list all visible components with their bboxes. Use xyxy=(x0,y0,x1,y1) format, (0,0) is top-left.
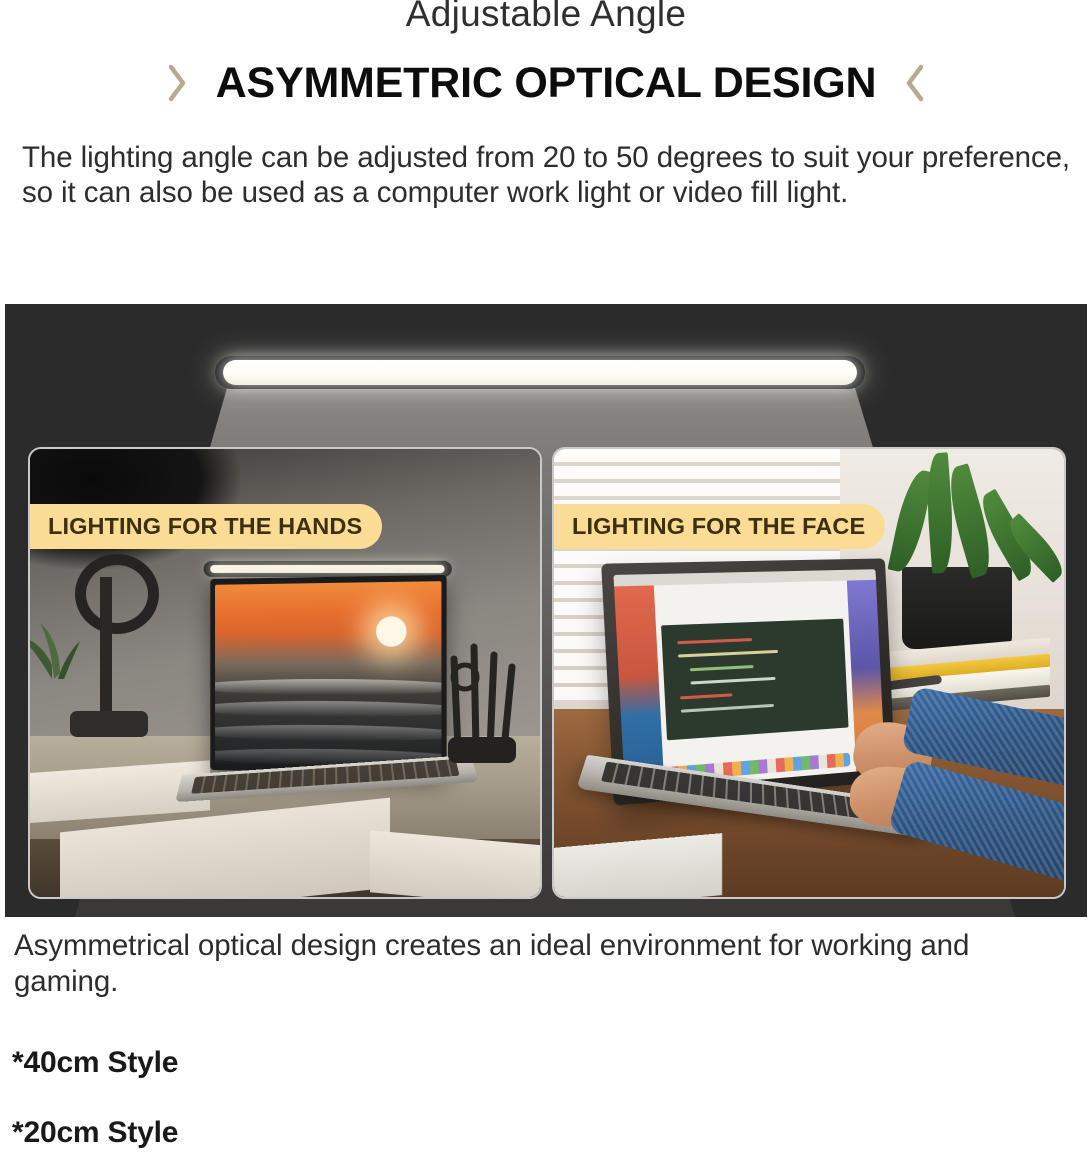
laptop-display xyxy=(613,569,885,791)
page-title: ASYMMETRIC OPTICAL DESIGN xyxy=(216,62,877,105)
hero-panel: LIGHTING FOR THE HANDS xyxy=(5,304,1087,917)
pen-holder-icon xyxy=(432,629,528,769)
chevron-right-icon xyxy=(164,62,190,104)
desk-lamp-pole xyxy=(100,577,112,717)
sun-glow xyxy=(376,616,406,647)
eyebrow-title: Adjustable Angle xyxy=(0,0,1092,36)
intro-paragraph: The lighting angle can be adjusted from … xyxy=(22,140,1070,210)
variant-20cm: *20cm Style xyxy=(12,1116,178,1150)
desk-lamp-ring xyxy=(75,554,159,634)
ocean-sunset-wallpaper xyxy=(215,581,441,767)
photo-panel-hands: LIGHTING FOR THE HANDS xyxy=(28,447,542,899)
led-tube-glow xyxy=(223,360,857,385)
badge-hands: LIGHTING FOR THE HANDS xyxy=(28,504,382,549)
caption-paragraph: Asymmetrical optical design creates an i… xyxy=(14,928,1062,1000)
badge-hands-label: LIGHTING FOR THE HANDS xyxy=(48,513,362,540)
photo-panel-face: LIGHTING FOR THE FACE xyxy=(552,447,1066,899)
plant-pot xyxy=(902,567,1012,649)
badge-face-label: LIGHTING FOR THE FACE xyxy=(572,513,865,540)
chevron-left-icon xyxy=(902,62,928,104)
plant-icon xyxy=(30,599,80,679)
code-editor xyxy=(661,619,849,741)
headline-row: ASYMMETRIC OPTICAL DESIGN xyxy=(0,54,1092,112)
variant-40cm: *40cm Style xyxy=(12,1046,178,1080)
led-light-bar xyxy=(215,356,865,389)
laptop-screen xyxy=(210,575,446,774)
desk-lamp-base xyxy=(70,711,148,737)
badge-face: LIGHTING FOR THE FACE xyxy=(552,504,885,549)
